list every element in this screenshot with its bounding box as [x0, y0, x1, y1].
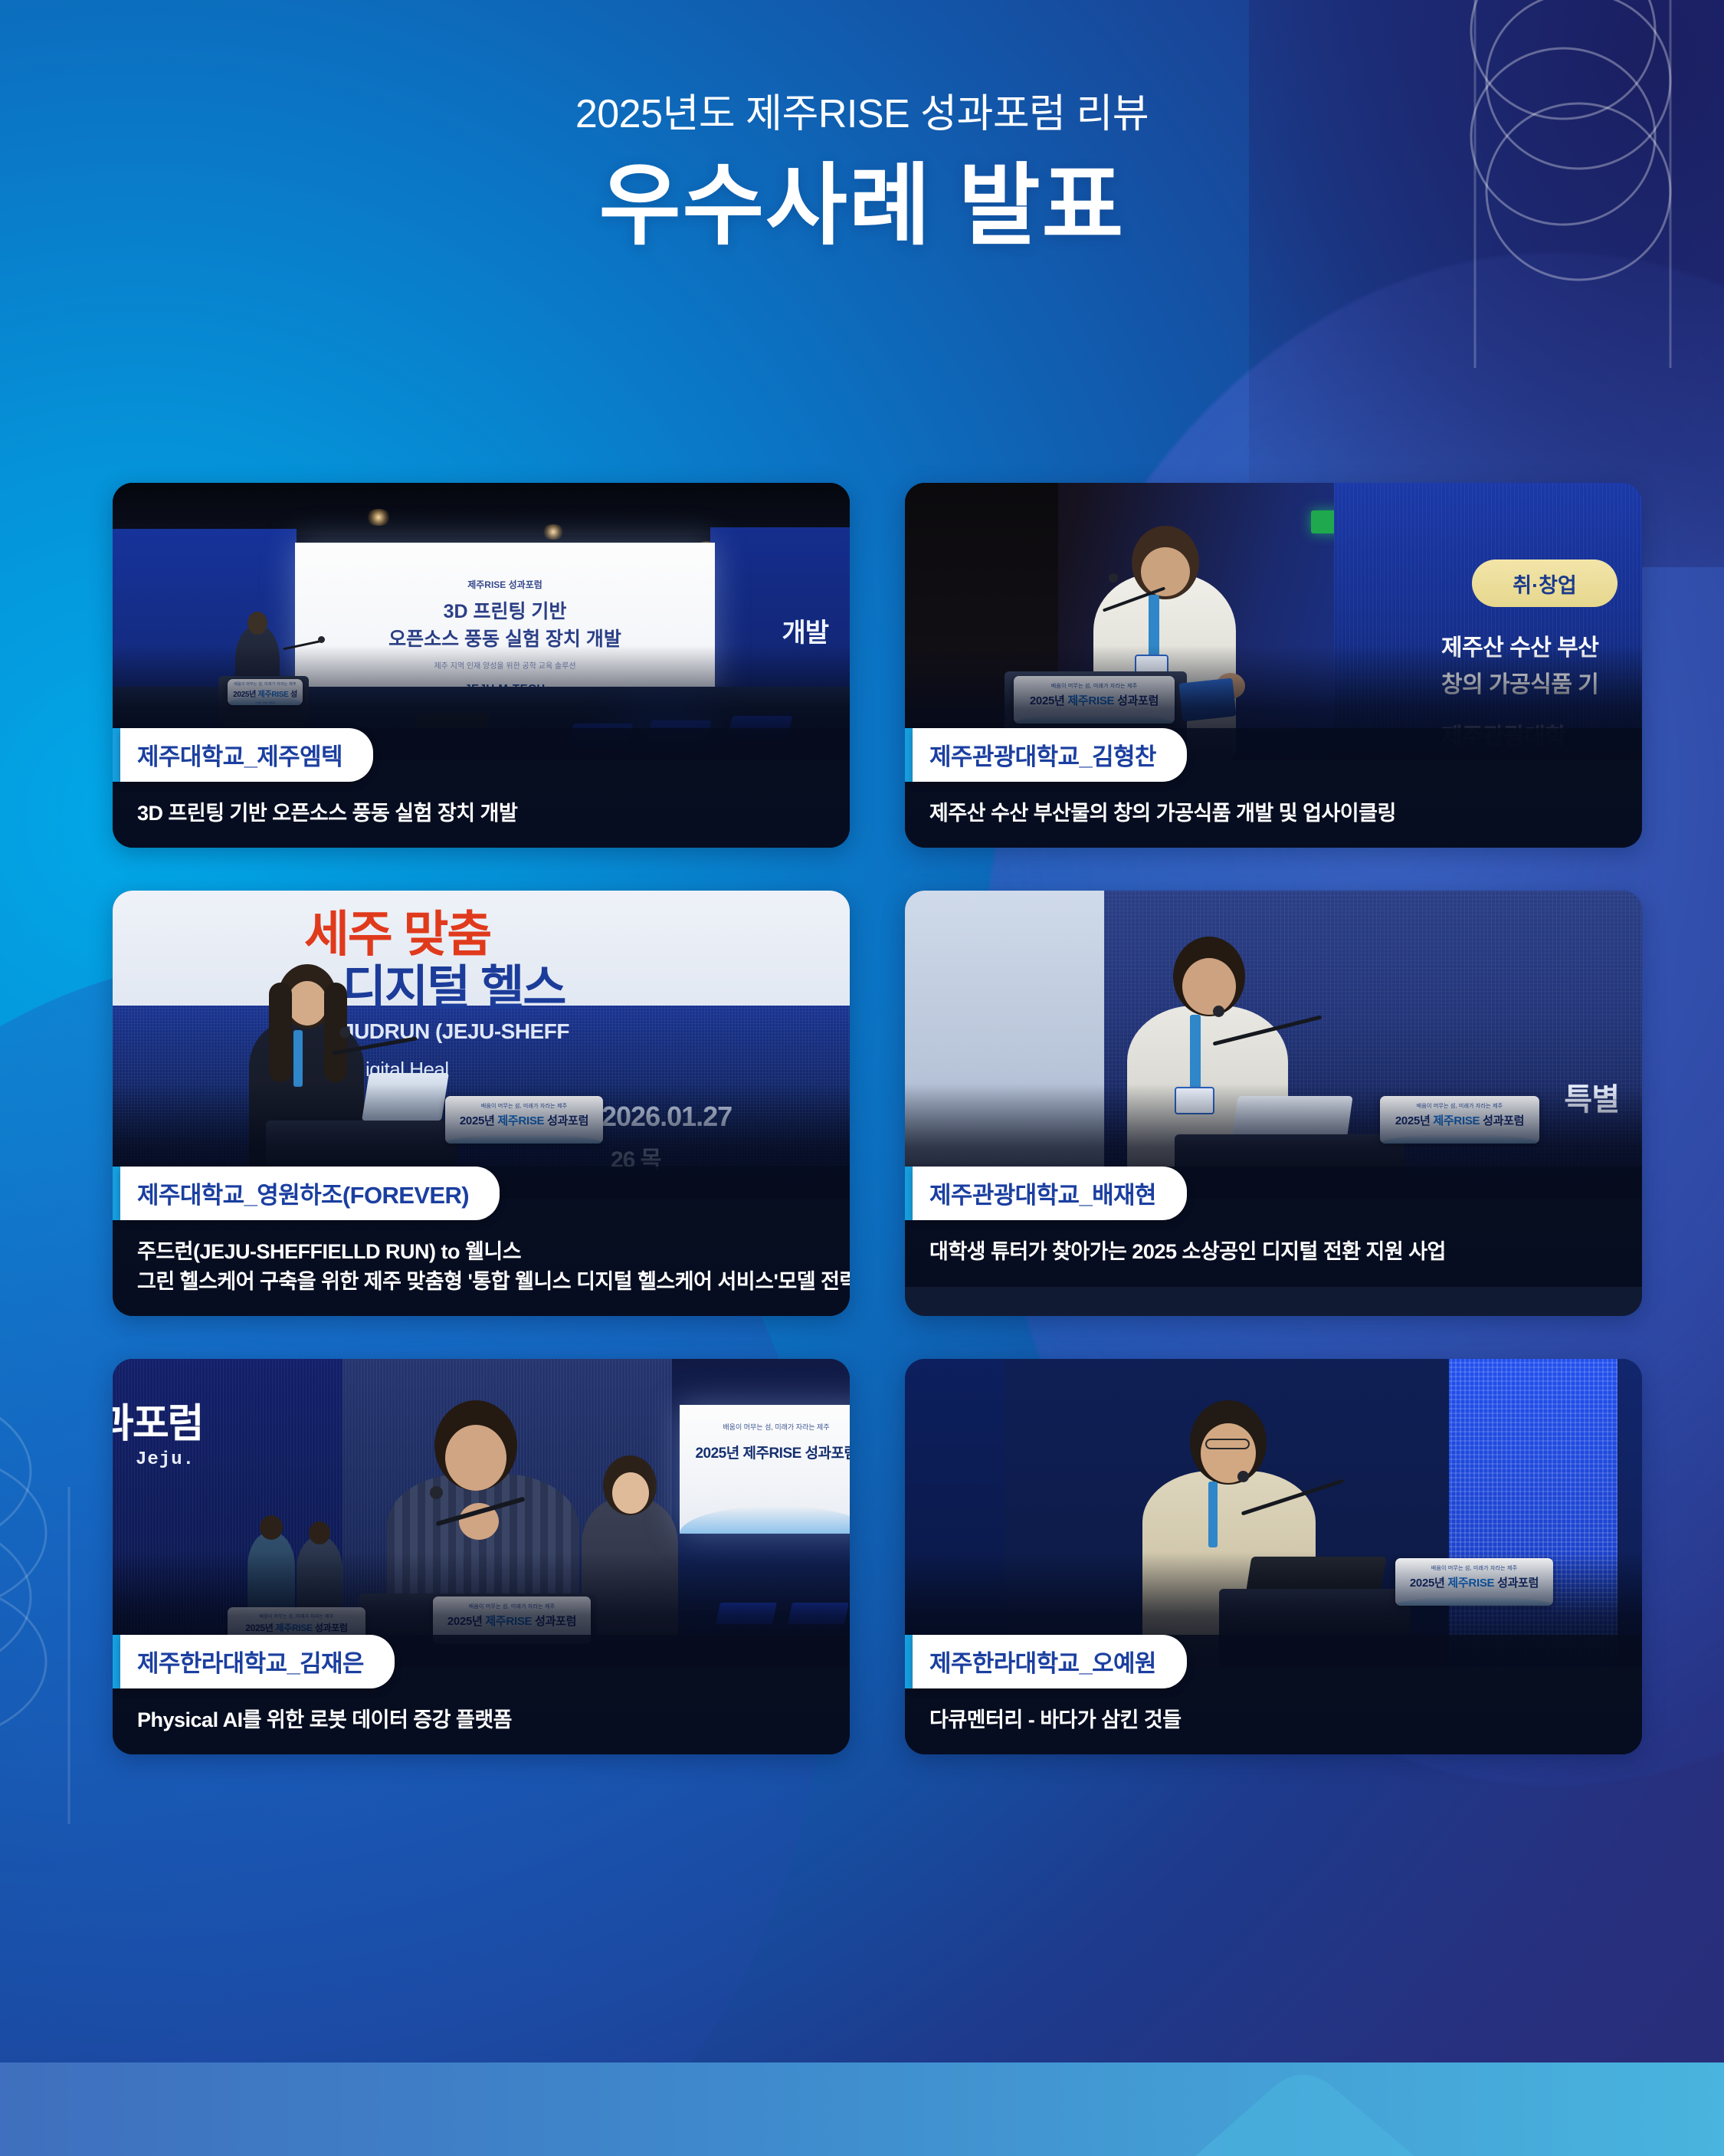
- card-photo: 세주 맞춤 디지털 헬스 JUDRUN (JEJU-SHEFF igital H…: [113, 891, 850, 1199]
- card-photo: 취·창업 제주산 수산 부산 창의 가공식품 기 제주관광대학: [905, 483, 1642, 760]
- case-card[interactable]: 취·창업 제주산 수산 부산 창의 가공식품 기 제주관광대학: [905, 483, 1642, 848]
- wall-tag: 취·창업: [1472, 560, 1617, 607]
- badge-accent-bar: [113, 728, 120, 782]
- wall-line-2: 디지털 헬스: [343, 949, 565, 1018]
- card-photo: 특별 배움이 머무는 섬, 미래가 자라는 제주: [905, 891, 1642, 1199]
- card-photo: 과포럼 Jeju.: [113, 1359, 850, 1667]
- card-title-line: 제주산 수산 부산물의 창의 가공식품 개발 및 업사이클링: [929, 799, 1617, 828]
- slide-title-line1: 3D 프린팅 기반: [295, 596, 715, 624]
- case-card[interactable]: 과포럼 Jeju.: [113, 1359, 850, 1754]
- wall-line-3: JUDRUN (JEJU-SHEFF: [343, 1019, 569, 1044]
- card-photo: 배움이 머무는 섬, 미래가 자라는 제주 2025년 제주RISE 성과포럼: [905, 1359, 1642, 1667]
- card-caption: 제주대학교_영원하조(FOREVER) 주드런(JEJU-SHEFFIELLD …: [113, 1167, 850, 1316]
- card-photo: 제주RISE 성과포럼 3D 프린팅 기반 오픈소스 풍동 실험 장치 개발 제…: [113, 483, 850, 760]
- screen-line-1: 배움이 머무는 섬, 미래가 자라는 제주: [680, 1422, 850, 1432]
- status-badge: 제주대학교_영원하조(FOREVER): [120, 1167, 500, 1220]
- poster-header: 2025년도 제주RISE 성과포럼 리뷰 우수사례 발표: [0, 90, 1724, 258]
- screen-line-2: 2025년 제주RISE 성과포럼: [680, 1442, 850, 1462]
- case-card[interactable]: 배움이 머무는 섬, 미래가 자라는 제주 2025년 제주RISE 성과포럼 …: [905, 1359, 1642, 1754]
- card-caption: 제주관광대학교_배재현 대학생 튜터가 찾아가는 2025 소상공인 디지털 전…: [905, 1167, 1642, 1286]
- eyebrow-text: 2025년도 제주RISE 성과포럼 리뷰: [0, 90, 1724, 138]
- card-caption: 제주한라대학교_김재은 Physical AI를 위한 로봇 데이터 증강 플랫…: [113, 1635, 850, 1754]
- badge-accent-bar: [905, 1635, 913, 1688]
- card-title-line: 그린 헬스케어 구축을 위한 제주 맞춤형 '통합 웰니스 디지털 헬스케어 서…: [137, 1267, 825, 1296]
- case-card[interactable]: 제주RISE 성과포럼 3D 프린팅 기반 오픈소스 풍동 실험 장치 개발 제…: [113, 483, 850, 848]
- status-badge: 제주한라대학교_오예원: [913, 1635, 1187, 1688]
- slide-kicker: 제주RISE 성과포럼: [295, 578, 715, 591]
- wall-line-1: 과포럼: [113, 1391, 203, 1449]
- case-card[interactable]: 세주 맞춤 디지털 헬스 JUDRUN (JEJU-SHEFF igital H…: [113, 891, 850, 1316]
- card-title-line: 다큐멘터리 - 바다가 삼킨 것들: [929, 1705, 1617, 1734]
- case-card[interactable]: 특별 배움이 머무는 섬, 미래가 자라는 제주: [905, 891, 1642, 1316]
- background-dark-corner: [1249, 0, 1724, 567]
- card-title-line: 대학생 튜터가 찾아가는 2025 소상공인 디지털 전환 지원 사업: [929, 1237, 1617, 1266]
- badge-accent-bar: [113, 1635, 120, 1688]
- page-title: 우수사례 발표: [0, 155, 1724, 257]
- footer-wave-decoration: [0, 1972, 1724, 2156]
- card-caption: 제주관광대학교_김형찬 제주산 수산 부산물의 창의 가공식품 개발 및 업사이…: [905, 728, 1642, 848]
- poster-canvas: 2025년도 제주RISE 성과포럼 리뷰 우수사례 발표: [0, 0, 1724, 2156]
- status-badge: 제주관광대학교_김형찬: [913, 728, 1187, 782]
- badge-accent-bar: [113, 1167, 120, 1220]
- badge-accent-bar: [905, 728, 913, 782]
- case-card-grid: 제주RISE 성과포럼 3D 프린팅 기반 오픈소스 풍동 실험 장치 개발 제…: [113, 483, 1642, 1754]
- badge-accent-bar: [905, 1167, 913, 1220]
- wall-text: 개발: [782, 612, 828, 649]
- card-caption: 제주한라대학교_오예원 다큐멘터리 - 바다가 삼킨 것들: [905, 1635, 1642, 1754]
- status-badge: 제주대학교_제주엠텍: [120, 728, 373, 782]
- card-title-line: 주드런(JEJU-SHEFFIELLD RUN) to 웰니스: [137, 1237, 825, 1266]
- status-badge: 제주한라대학교_김재은: [120, 1635, 395, 1688]
- status-badge: 제주관광대학교_배재현: [913, 1167, 1187, 1220]
- wall-line-2: Jeju.: [136, 1449, 195, 1470]
- card-caption: 제주대학교_제주엠텍 3D 프린팅 기반 오픈소스 풍동 실험 장치 개발: [113, 728, 850, 848]
- card-title-line: Physical AI를 위한 로봇 데이터 증강 플랫폼: [137, 1705, 825, 1734]
- card-title-line: 3D 프린팅 기반 오픈소스 풍동 실험 장치 개발: [137, 799, 825, 828]
